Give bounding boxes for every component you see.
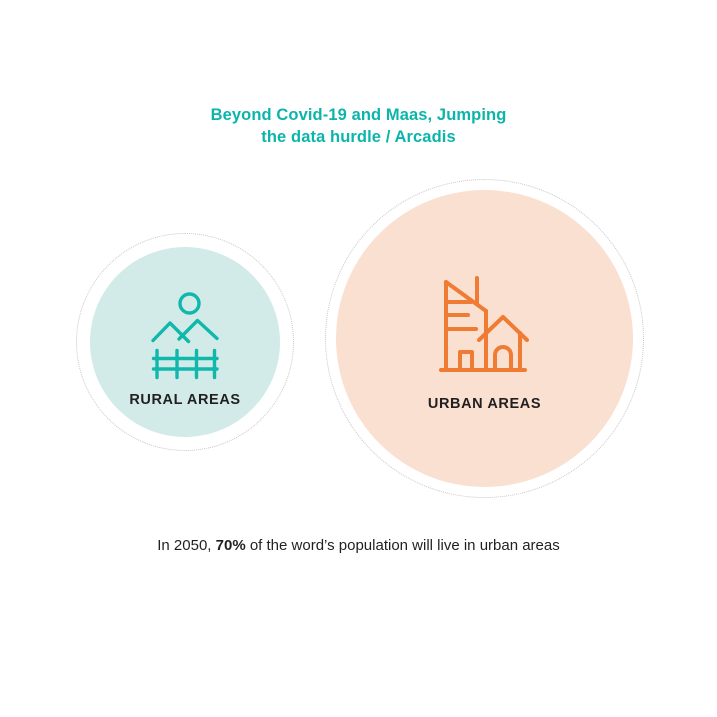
bubble-rural-areas: RURAL AREAS xyxy=(76,233,294,451)
bubble-urban-content: URBAN AREAS xyxy=(325,181,644,500)
bubble-rural-label: RURAL AREAS xyxy=(129,392,240,408)
infographic-canvas: Beyond Covid-19 and Maas, Jumping the da… xyxy=(0,0,717,717)
bubble-urban-label: URBAN AREAS xyxy=(428,396,541,412)
rural-landscape-icon xyxy=(135,282,235,382)
caption-suffix: of the word’s population will live in ur… xyxy=(246,537,560,554)
bubble-rural-content: RURAL AREAS xyxy=(76,236,294,454)
page-title-line-1: Beyond Covid-19 and Maas, Jumping xyxy=(0,104,717,126)
caption: In 2050, 70% of the word’s population wi… xyxy=(0,535,717,557)
city-buildings-icon xyxy=(429,270,541,382)
caption-prefix: In 2050, xyxy=(157,537,215,554)
page-title: Beyond Covid-19 and Maas, Jumping the da… xyxy=(0,104,717,148)
caption-highlight: 70% xyxy=(216,537,246,554)
bubble-urban-areas: URBAN AREAS xyxy=(325,179,644,498)
page-title-line-2: the data hurdle / Arcadis xyxy=(0,126,717,148)
